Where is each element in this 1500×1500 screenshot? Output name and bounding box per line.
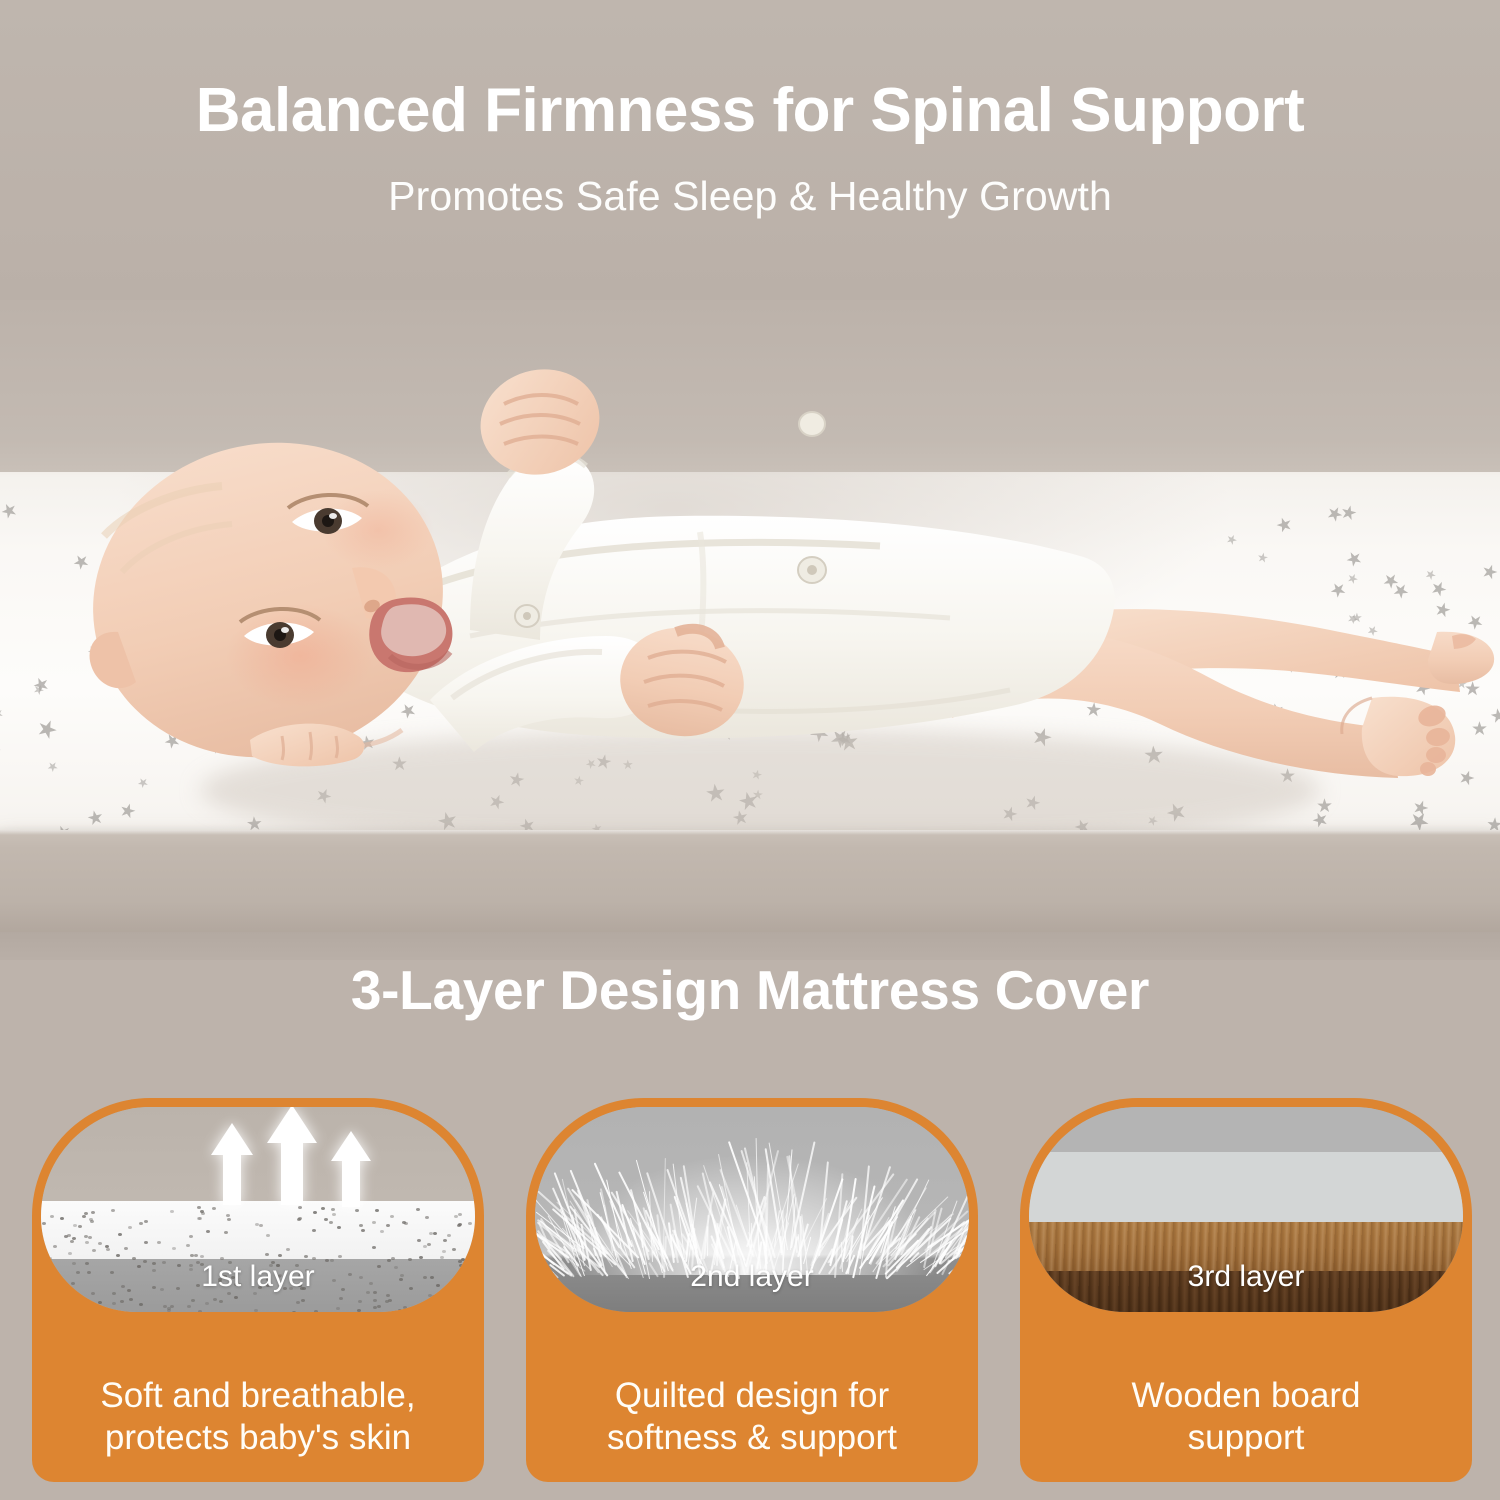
layer-1-air-zone [41,1107,475,1201]
layer-3-caption: Wooden board support [1020,1375,1472,1460]
layer-1-caption: Soft and breathable, protects baby's ski… [32,1375,484,1460]
layer-1-image: 1st layer [41,1107,475,1312]
layer-card-1[interactable]: 1st layer Soft and breathable, protects … [32,1098,484,1482]
layer-3-top-band [1029,1107,1463,1152]
layer-1-caption-line2: protects baby's skin [46,1417,470,1460]
airflow-arrow-right-icon [329,1129,373,1209]
star-print-pattern: ★★★★★★★★★★★★★★★★★★★★★★★★★★★★★★★★★★★★★★★★… [0,472,1500,834]
layer-card-3[interactable]: 3rd layer Wooden board support [1020,1098,1472,1482]
baby-mattress-photo: ★★★★★★★★★★★★★★★★★★★★★★★★★★★★★★★★★★★★★★★★… [0,300,1500,960]
page-subheadline: Promotes Safe Sleep & Healthy Growth [0,173,1500,220]
mattress-side-edge [0,830,1500,932]
mattress-top-surface: ★★★★★★★★★★★★★★★★★★★★★★★★★★★★★★★★★★★★★★★★… [0,472,1500,834]
photo-backdrop [0,300,1500,500]
layer-3-caption-line1: Wooden board [1034,1375,1458,1418]
airflow-arrow-left-icon [209,1121,255,1207]
layer-cards: 1st layer Soft and breathable, protects … [32,1098,1472,1482]
layer-card-2[interactable]: 2nd layer Quilted design for softness & … [526,1098,978,1482]
layer-1-caption-line1: Soft and breathable, [46,1375,470,1418]
layer-3-label: 3rd layer [1029,1260,1463,1294]
layer-3-caption-line2: support [1034,1417,1458,1460]
layer-2-caption-line2: softness & support [540,1417,964,1460]
layer-2-image: 2nd layer [535,1107,969,1312]
layer-2-label: 2nd layer [535,1260,969,1294]
layer-2-caption-line1: Quilted design for [540,1375,964,1418]
layer-3-image: 3rd layer [1029,1107,1463,1312]
section-title: 3-Layer Design Mattress Cover [0,958,1500,1022]
layer-3-light-band [1029,1152,1463,1222]
airflow-arrow-center-icon [265,1107,319,1207]
layer-1-label: 1st layer [41,1260,475,1294]
layer-2-fiber-glow [570,1156,935,1275]
product-feature-page: Balanced Firmness for Spinal Support Pro… [0,0,1500,1500]
page-headline: Balanced Firmness for Spinal Support [0,78,1500,143]
photo-floor [0,932,1500,960]
layer-2-caption: Quilted design for softness & support [526,1375,978,1460]
